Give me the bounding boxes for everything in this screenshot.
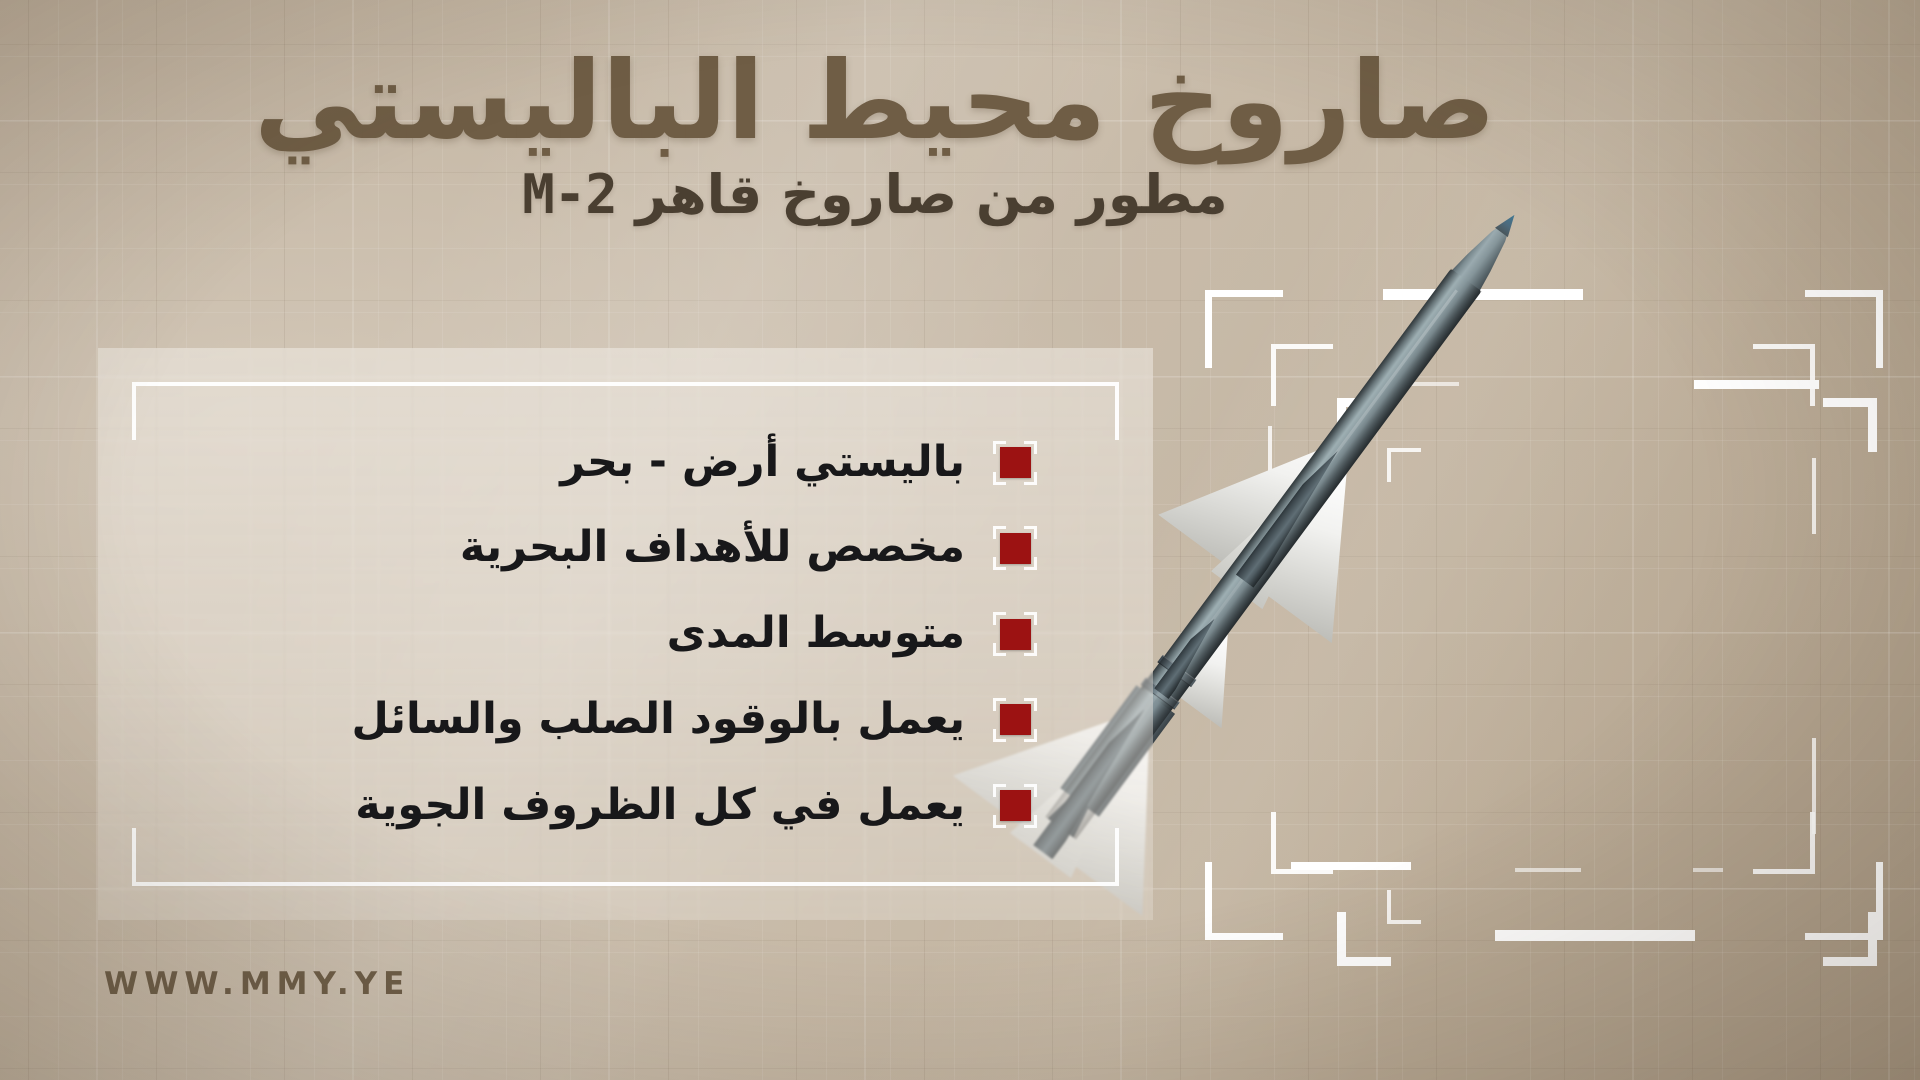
hud-tick-right-upper [1694, 380, 1819, 389]
list-item: يعمل في كل الظروف الجوية [190, 779, 1037, 833]
hud-bold-corner-top-left-icon [1337, 398, 1391, 452]
bullet-bracket-bl-icon [993, 729, 1006, 742]
site-watermark: WWW.MMY.YE [104, 966, 410, 1002]
bullet-bracket-br-icon [1024, 472, 1037, 485]
missile-upper-fin-left-icon [1158, 394, 1321, 569]
bullet-bracket-br-icon [1024, 729, 1037, 742]
missile-upper-fin-center-icon [1211, 436, 1362, 609]
specifications-list: باليستي أرض - بحر مخصص للأهداف البحرية [98, 348, 1153, 920]
hud-tick-thin-b [1515, 868, 1581, 872]
bullet-bracket-br-icon [1024, 557, 1037, 570]
hud-inner-corner-bottom-right-icon [1753, 812, 1815, 874]
hud-inner-corner-top-right-icon [1753, 344, 1815, 406]
bullet-bracket-tl-icon [993, 526, 1006, 539]
bullet-bracket-tr-icon [1024, 612, 1037, 625]
hud-vertical-tick-left [1268, 426, 1272, 534]
page-subtitle-prefix: مطور من صاروخ قاهر [636, 163, 1228, 226]
bullet-bracket-bl-icon [993, 643, 1006, 656]
specifications-panel: باليستي أرض - بحر مخصص للأهداف البحرية [98, 348, 1153, 920]
hud-bold-corner-bottom-right-icon [1823, 912, 1877, 966]
bullet-bracket-bl-icon [993, 557, 1006, 570]
list-item-label: متوسط المدى [667, 607, 965, 661]
bullet-bracket-br-icon [1024, 815, 1037, 828]
missile-fin-root-upper [1236, 446, 1349, 588]
bullet-bracket-tr-icon [1024, 441, 1037, 454]
bullet-marker-icon [993, 612, 1037, 656]
list-item-label: مخصص للأهداف البحرية [460, 521, 965, 575]
bullet-bracket-tl-icon [993, 784, 1006, 797]
bullet-bracket-tr-icon [1024, 526, 1037, 539]
page-title: صاروخ محيط الباليستي [0, 44, 1920, 161]
hud-bold-corner-top-right-icon [1823, 398, 1877, 452]
hud-inner-corner-bottom-left-icon [1271, 812, 1333, 874]
bullet-bracket-tr-icon [1024, 784, 1037, 797]
bullet-marker-icon [993, 784, 1037, 828]
hud-targeting-frame [1195, 330, 1795, 930]
list-item-label: باليستي أرض - بحر [560, 436, 965, 490]
list-item-label: يعمل بالوقود الصلب والسائل [352, 693, 966, 747]
bullet-marker-icon [993, 698, 1037, 742]
hud-tick-thin-a [1399, 382, 1459, 386]
missile-joint-band-upper [1157, 655, 1196, 687]
infographic-canvas: صاروخ محيط الباليستي مطور من صاروخ قاهر … [0, 0, 1920, 1080]
hud-corner-bottom-left-icon [1205, 862, 1283, 940]
bullet-bracket-bl-icon [993, 815, 1006, 828]
hud-fine-corner-bottom-left-icon [1387, 890, 1421, 924]
missile-fin-root-mid [1154, 614, 1223, 699]
page-subtitle-model: M-2 [522, 163, 617, 226]
hud-vertical-tick-right-lower [1812, 738, 1816, 834]
bullet-marker-icon [993, 441, 1037, 485]
missile-nose-cone [1443, 206, 1528, 303]
list-item: يعمل بالوقود الصلب والسائل [190, 693, 1037, 747]
bullet-marker-icon [993, 526, 1037, 570]
hud-inner-corner-top-left-icon [1271, 344, 1333, 406]
list-item-label: يعمل في كل الظروف الجوية [355, 779, 965, 833]
list-item: مخصص للأهداف البحرية [190, 521, 1037, 575]
bullet-bracket-tl-icon [993, 441, 1006, 454]
hud-corner-top-right-icon [1805, 290, 1883, 368]
hud-corner-top-left-icon [1205, 290, 1283, 368]
page-subtitle: مطور من صاروخ قاهر M-2 [0, 163, 1920, 228]
bullet-bracket-tl-icon [993, 698, 1006, 711]
missile-upper-fin-right-icon [1258, 468, 1421, 643]
missile-tip [1495, 210, 1521, 237]
missile-illustration [1175, 215, 1795, 935]
hud-corner-bottom-right-icon [1805, 862, 1883, 940]
bullet-bracket-tr-icon [1024, 698, 1037, 711]
hud-tick-left-lower [1291, 862, 1411, 870]
hud-tick-top [1383, 289, 1583, 300]
bullet-bracket-br-icon [1024, 643, 1037, 656]
hud-tick-thin-c [1693, 868, 1723, 872]
list-item: متوسط المدى [190, 607, 1037, 661]
title-block: صاروخ محيط الباليستي مطور من صاروخ قاهر … [0, 44, 1920, 227]
hud-tick-bottom [1495, 930, 1695, 941]
list-item: باليستي أرض - بحر [190, 436, 1037, 490]
hud-vertical-tick-right-upper [1812, 458, 1816, 534]
missile-mid-fin-icon [1178, 629, 1271, 729]
bullet-bracket-tl-icon [993, 612, 1006, 625]
bullet-bracket-bl-icon [993, 472, 1006, 485]
hud-bold-corner-bottom-left-icon [1337, 912, 1391, 966]
hud-fine-corner-top-left-icon [1387, 448, 1421, 482]
